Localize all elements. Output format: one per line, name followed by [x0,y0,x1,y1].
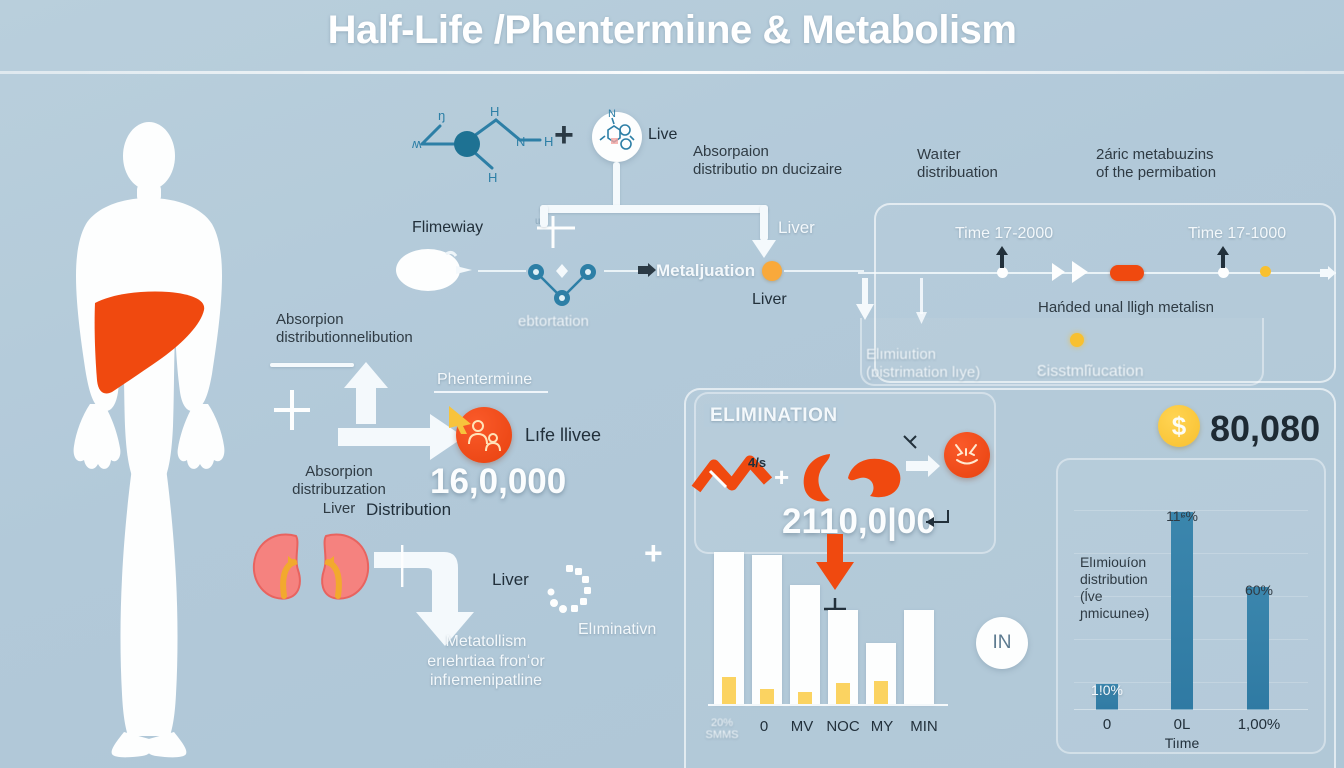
molecule-center-atom [454,131,480,157]
life-live-number: 16,0,000 [430,462,566,502]
absorption-top-label: Absorpaion distributio ɒn ducizaire [693,143,893,180]
bar-secondary [722,677,736,704]
atom-label: H [488,170,497,185]
orange-pill-icon [1110,265,1144,281]
timeline-marker-dot [997,267,1008,278]
center-chart-axis [708,704,948,706]
plus-sign-icon: + [644,535,663,572]
molecule-cluster-icon [592,112,642,162]
orange-fragment-icon [800,450,840,506]
phentermine-underline [434,391,548,393]
flow-connector-line [784,270,864,272]
timeline-marker-left-label: Time 17-2000 [955,224,1053,244]
scribble-icon [952,441,982,469]
plus-sign-icon: + [554,116,574,155]
elimination-number: 2110,0|00 [782,502,936,542]
bar-value-label: 60% [1237,582,1281,599]
balloon-icon [396,246,476,294]
bar-secondary [874,681,888,704]
molecule-cluster-atom-label: N [608,108,616,121]
chevron-right-icon [1072,261,1104,283]
money-badge-value: 80,080 [1210,408,1320,450]
bar-primary [790,585,820,704]
atom-label: ʍ [412,136,422,151]
arrow-right-icon [906,455,940,477]
flow-bracket [540,205,548,227]
distribution-mid-label: Distribution [366,500,451,520]
bar-value-label: 1!0% [1086,682,1128,699]
in-badge: IN [976,617,1028,669]
liver-right-top-label: Liver [778,218,815,239]
water-distribution-label: Waıter distribuation [917,146,1067,183]
x-tick-label: MY [862,718,902,736]
metabolism-node-dot [762,261,782,281]
infographic-canvas: Half-Life /Phentermiıne & Metabolism [0,0,1344,768]
flimeway-label: Flimewiay [412,218,483,237]
x-tick-label: 0L [1160,716,1204,734]
cursor-pointer-icon [447,404,481,434]
arrow-up-icon [996,246,1008,268]
right-chart-xlabel: Tiıme [1160,735,1204,752]
bar-secondary [836,683,850,704]
flow-bracket [613,162,620,210]
life-live-label: Lıfe lliveе [525,425,601,447]
dollar-icon: $ [1158,405,1200,447]
arrow-down-icon [856,278,874,320]
kidneys-icon [250,528,372,608]
tick-mark-icon [902,432,926,456]
cluster-label: Live [648,125,677,144]
metabolizing-label: 2áric metabɯzins of the permibation [1096,146,1286,183]
fragment-mark-label: 4/s [748,455,766,470]
timeline-center-note: Hańded unal lligh metalisn [1038,299,1214,317]
timeline-marker-dot [1218,267,1229,278]
cross-mark-icon [272,388,312,432]
arrow-return-icon [918,508,952,530]
atom-label: H [544,134,553,149]
right-chart-annotation: Elımiouíon distribution (ĺve ɲmicɯneə) [1080,554,1172,622]
arrow-right-bend-icon [338,412,464,462]
metabolism-bottom-label: Metatollism erıehrtiaa fronʻor infıemeni… [396,632,576,691]
atom-label: ŋ [438,108,445,123]
bar-secondary [798,692,812,704]
human-silhouette [24,108,274,758]
right-bar-chart: Elımiouíon distribution (ĺve ɲmicɯneə) 1… [1056,458,1326,754]
orange-fragment-icon [846,454,904,506]
page-title: Half-Life /Phentermiıne & Metabolism [0,8,1344,53]
x-tick-label: MIN [902,718,946,736]
dotted-arc-icon [546,565,596,623]
atom-label: N [516,134,525,149]
center-chart-xlabels: 20% SMMS 0 MV NOC MY MIN [700,716,960,750]
absorption-left-label-1: Absorpion distributionnelibution [276,311,456,348]
bar [1247,587,1269,710]
elaboration-label: ebtortation [518,313,589,331]
bar-value-label: 11ᶝ% [1160,508,1204,525]
flow-connector-line [604,270,640,272]
in-badge-label: IN [993,632,1012,654]
right-chart-axis [1074,709,1308,711]
arrow-right-icon [638,263,656,277]
metabolism-center-label: Metaljuation [656,261,755,282]
body-svg [24,108,274,758]
molecule-structure-icon: ŋ ʍ H H N H [398,96,568,186]
timeline-elimination-note: Elımiuıtion (ɒistrimation lıye) [866,346,1036,383]
x-tick-label: 20% SMMS [702,718,742,741]
header-divider [0,71,1344,74]
timeline-end-dot [1260,266,1271,277]
center-bar-chart: 20% SMMS 0 MV NOC MY MIN [700,552,960,748]
arrow-up-icon [1217,246,1229,268]
x-tick-label: NOC [821,718,865,736]
bar-secondary [760,689,774,704]
plus-sign-icon: + [774,462,789,493]
bar [1171,512,1193,710]
phentermine-label: Phentermiıne [437,370,532,390]
timeline-marker-right-label: Time 17-1000 [1188,224,1286,244]
arrow-right-icon [1320,266,1336,280]
x-tick-label: 0 [1086,716,1128,734]
elimination-bottom-label: Elıminativn [578,620,656,640]
dollar-glyph: $ [1172,411,1186,442]
bond-triangle-icon [522,250,602,312]
flow-bracket [540,205,768,213]
center-chart-plot [700,552,960,714]
x-tick-label: 0 [747,718,781,736]
elimination-title: ELIMINATION [704,404,844,427]
bar-primary [752,555,782,704]
liver-bottom-label: Liver [492,570,529,590]
dissimilation-dot [1070,333,1084,347]
cross-mark-icon [398,545,406,587]
flow-connector-line [478,270,526,272]
atom-label: H [490,104,499,119]
liver-under-dot-label: Liver [752,290,787,309]
x-tick-label: 1,00% [1236,716,1282,734]
dissimilation-note: Ɛisstmlĩucation [1037,362,1144,382]
x-tick-label: MV [782,718,822,736]
bar-primary [904,610,934,704]
arrow-down-icon [752,236,776,258]
